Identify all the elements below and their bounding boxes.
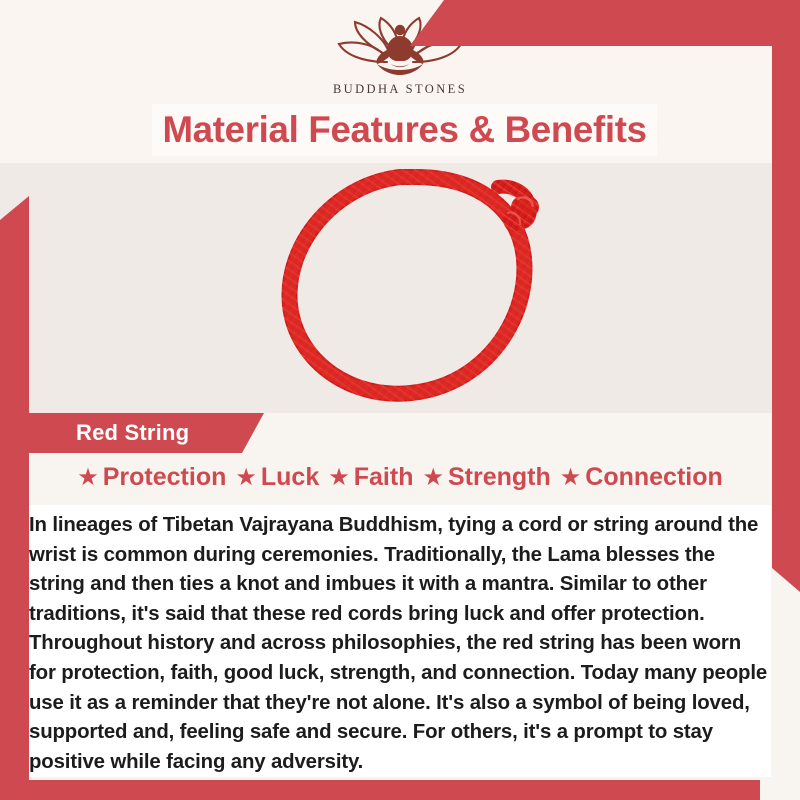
- benefit-label: Luck: [261, 463, 319, 492]
- description-panel: In lineages of Tibetan Vajrayana Buddhis…: [29, 505, 771, 777]
- benefit-label: Connection: [585, 463, 723, 492]
- benefit-item-strength: ★ Strength: [419, 463, 553, 492]
- infographic-page: BUDDHA STONES Material Features & Benefi…: [0, 0, 800, 800]
- decor-top-right-wedge: [410, 0, 800, 46]
- red-string-bracelet-image: [248, 163, 578, 413]
- star-icon: ★: [235, 466, 257, 490]
- material-ribbon: Red String: [29, 413, 264, 453]
- brand-name: BUDDHA STONES: [333, 82, 467, 97]
- benefit-label: Strength: [448, 463, 551, 492]
- star-icon: ★: [560, 466, 582, 490]
- title-plate: Material Features & Benefits: [152, 104, 657, 156]
- benefit-label: Faith: [354, 463, 414, 492]
- product-photo-band: [0, 163, 800, 413]
- benefits-row: ★ Protection ★ Luck ★ Faith ★ Strength ★…: [0, 463, 800, 492]
- ribbon-left-strip: [0, 413, 29, 453]
- material-ribbon-label: Red String: [76, 420, 189, 446]
- star-icon: ★: [328, 466, 350, 490]
- star-icon: ★: [77, 466, 99, 490]
- star-icon: ★: [422, 466, 444, 490]
- page-title: Material Features & Benefits: [162, 109, 646, 151]
- description-text: In lineages of Tibetan Vajrayana Buddhis…: [29, 511, 771, 777]
- decor-bottom-bar: [0, 780, 760, 800]
- benefit-item-faith: ★ Faith: [325, 463, 416, 492]
- benefit-label: Protection: [103, 463, 227, 492]
- benefit-item-protection: ★ Protection: [74, 463, 229, 492]
- decor-right-bar: [772, 46, 800, 592]
- benefit-item-connection: ★ Connection: [557, 463, 726, 492]
- benefit-item-luck: ★ Luck: [232, 463, 322, 492]
